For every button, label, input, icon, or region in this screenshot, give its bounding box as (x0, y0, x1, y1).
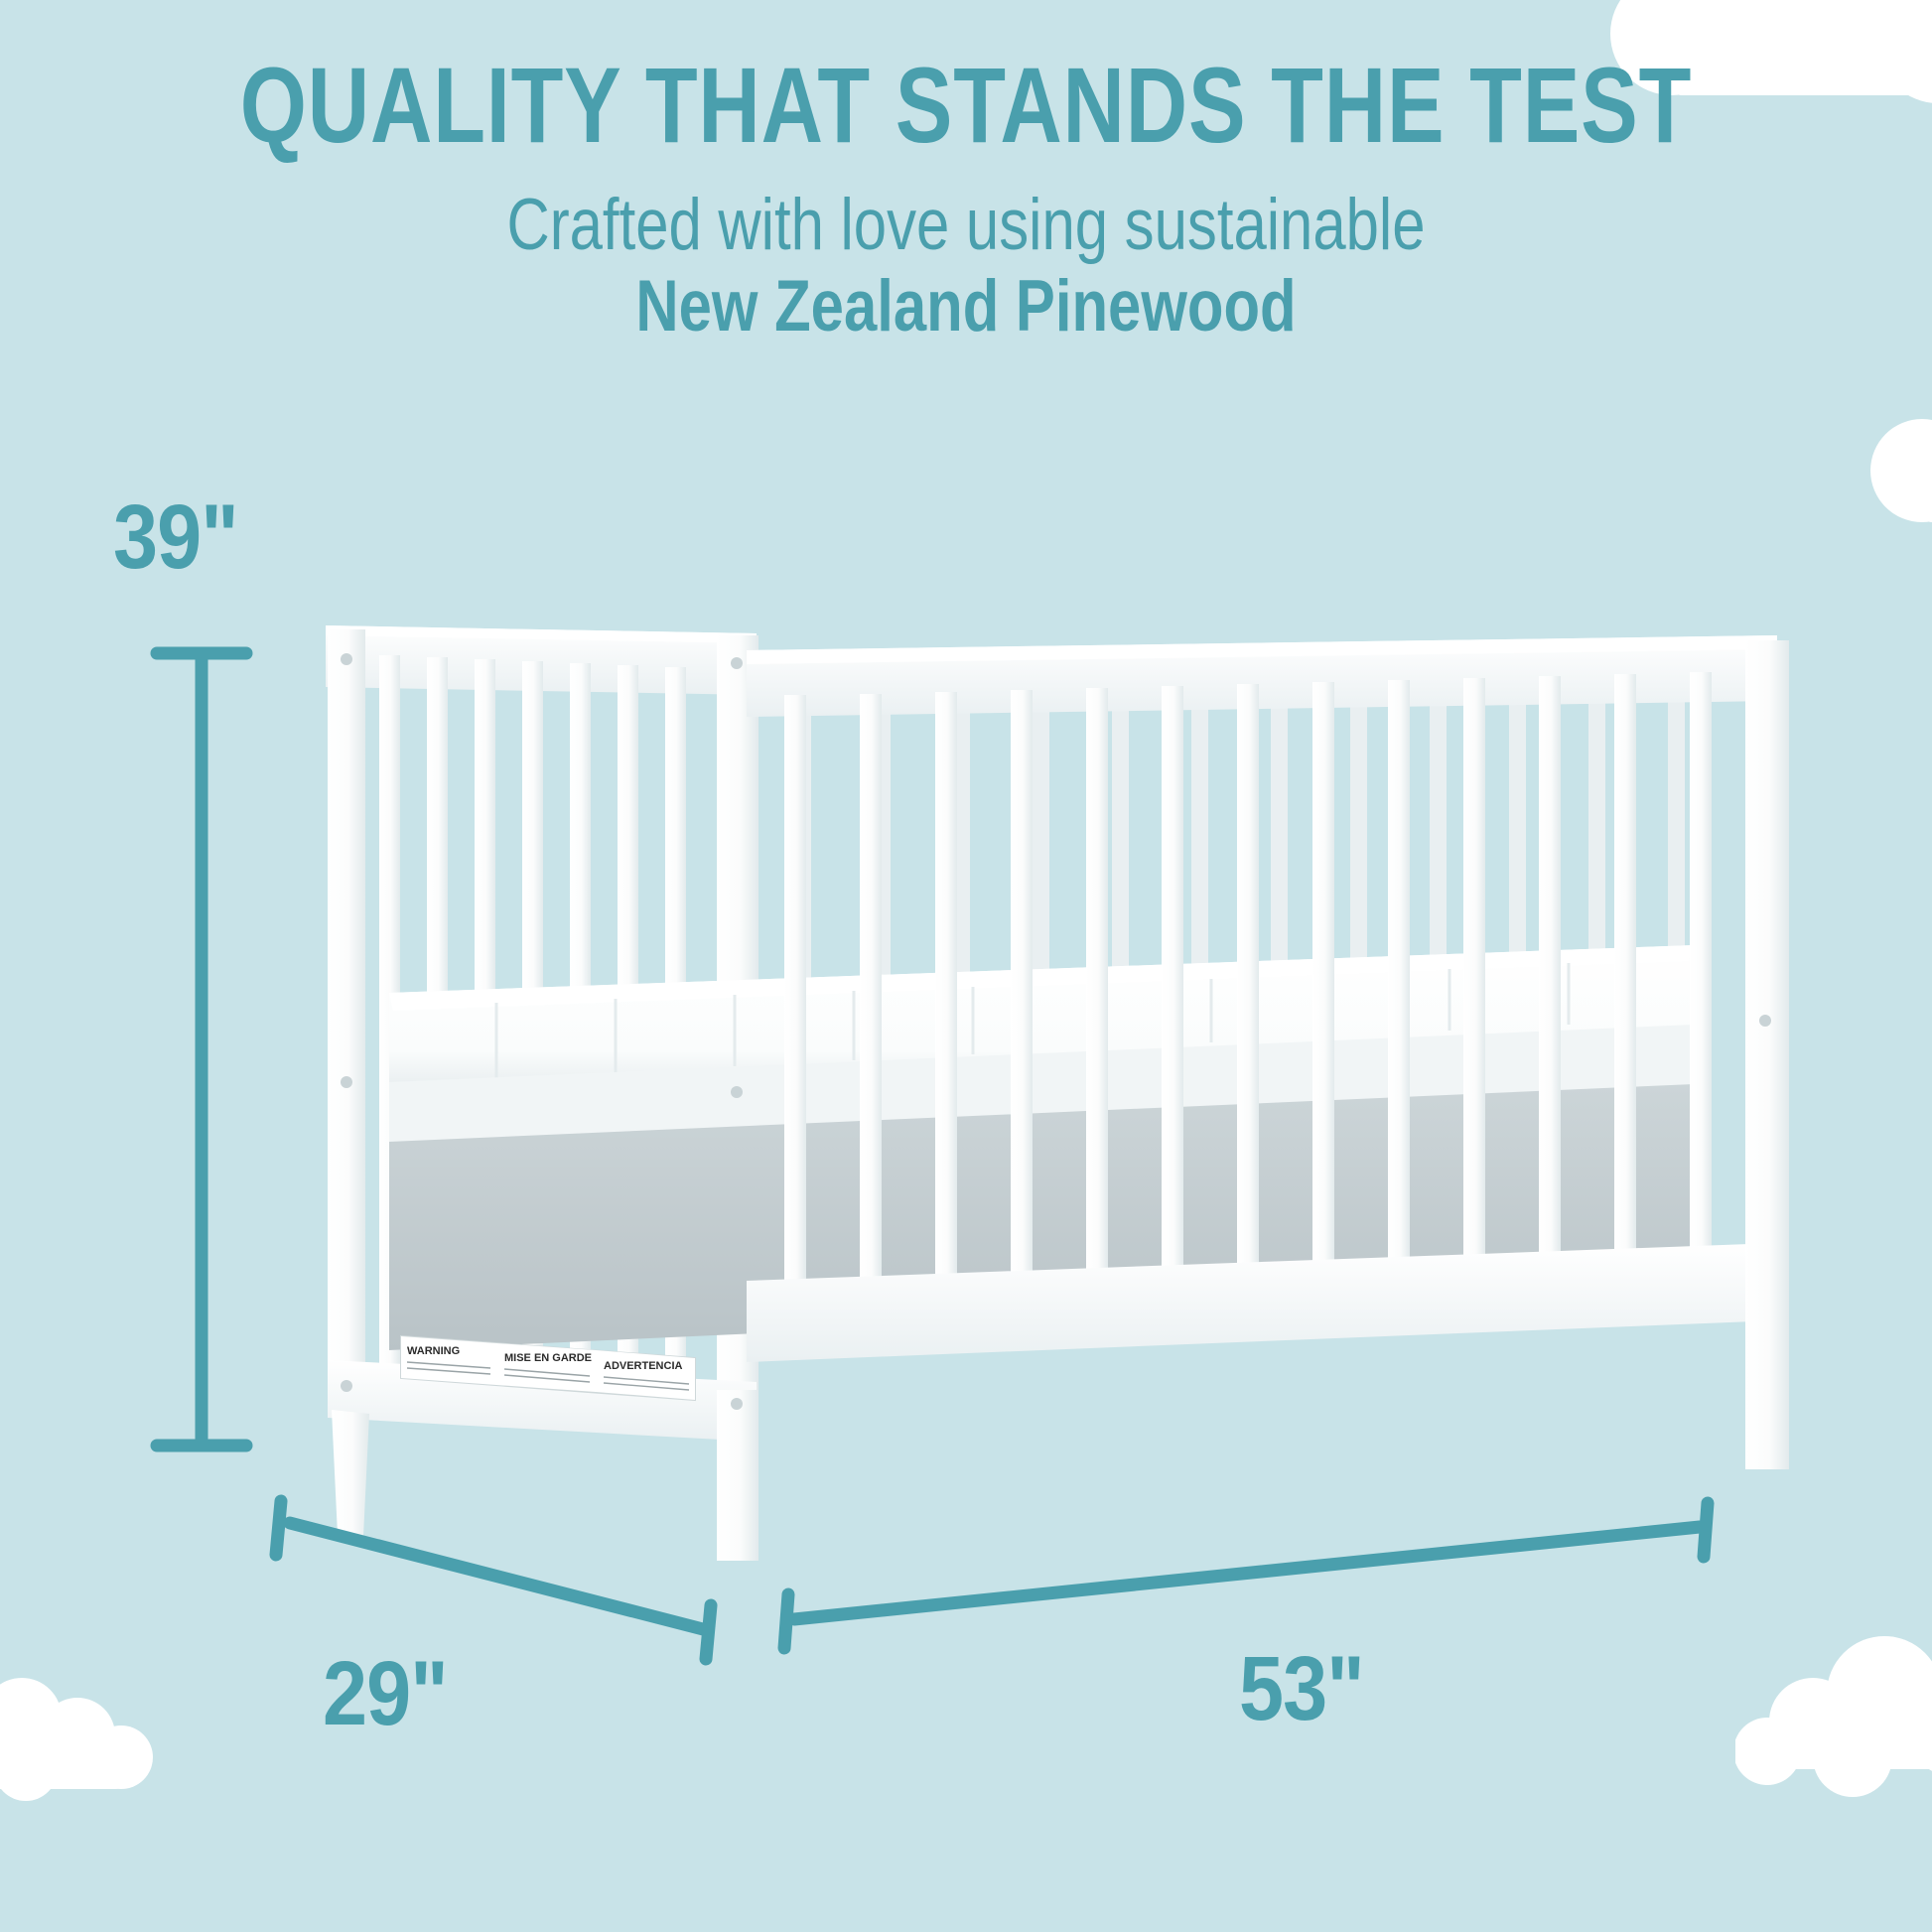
dimension-line-width (784, 1503, 1708, 1648)
dimension-lines (0, 0, 1932, 1932)
dimension-line-height (157, 653, 246, 1446)
infographic-canvas: QUALITY THAT STANDS THE TEST Crafted wit… (0, 0, 1932, 1932)
dimension-label-height: 39" (113, 491, 238, 583)
dimension-label-width: 53" (1239, 1643, 1364, 1734)
dimension-line-depth (276, 1501, 711, 1659)
dimension-label-depth: 29" (323, 1648, 448, 1739)
